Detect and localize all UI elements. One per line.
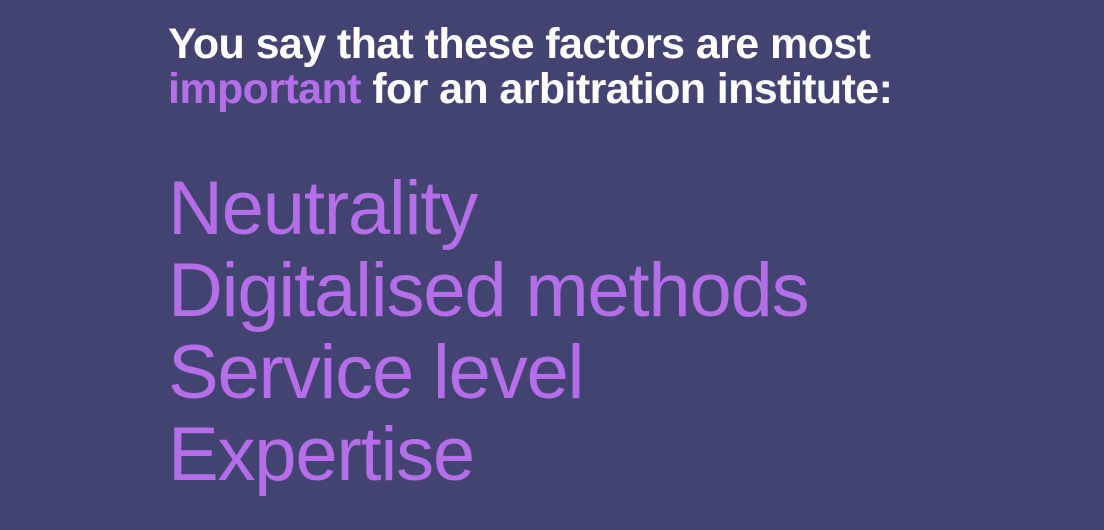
headline-accent-word: important — [168, 65, 361, 113]
factor-label: Expertise — [168, 412, 474, 497]
factor-label: Service level — [168, 330, 583, 415]
factor-label: Neutrality — [168, 166, 477, 251]
headline-line-two: for an arbitration institute: — [361, 65, 892, 113]
factor-label: Digitalised methods — [168, 248, 808, 333]
slide-canvas: You say that these factors are most impo… — [0, 0, 1104, 530]
list-item: Neutrality — [168, 168, 1068, 250]
list-item: Service level — [168, 332, 1068, 414]
list-item: Digitalised methods — [168, 250, 1068, 332]
list-item: Expertise — [168, 414, 1068, 496]
slide-headline: You say that these factors are most impo… — [168, 22, 1048, 112]
headline-line-one: You say that these factors are most — [168, 20, 870, 68]
factor-list: Neutrality Digitalised methods Service l… — [168, 168, 1068, 496]
